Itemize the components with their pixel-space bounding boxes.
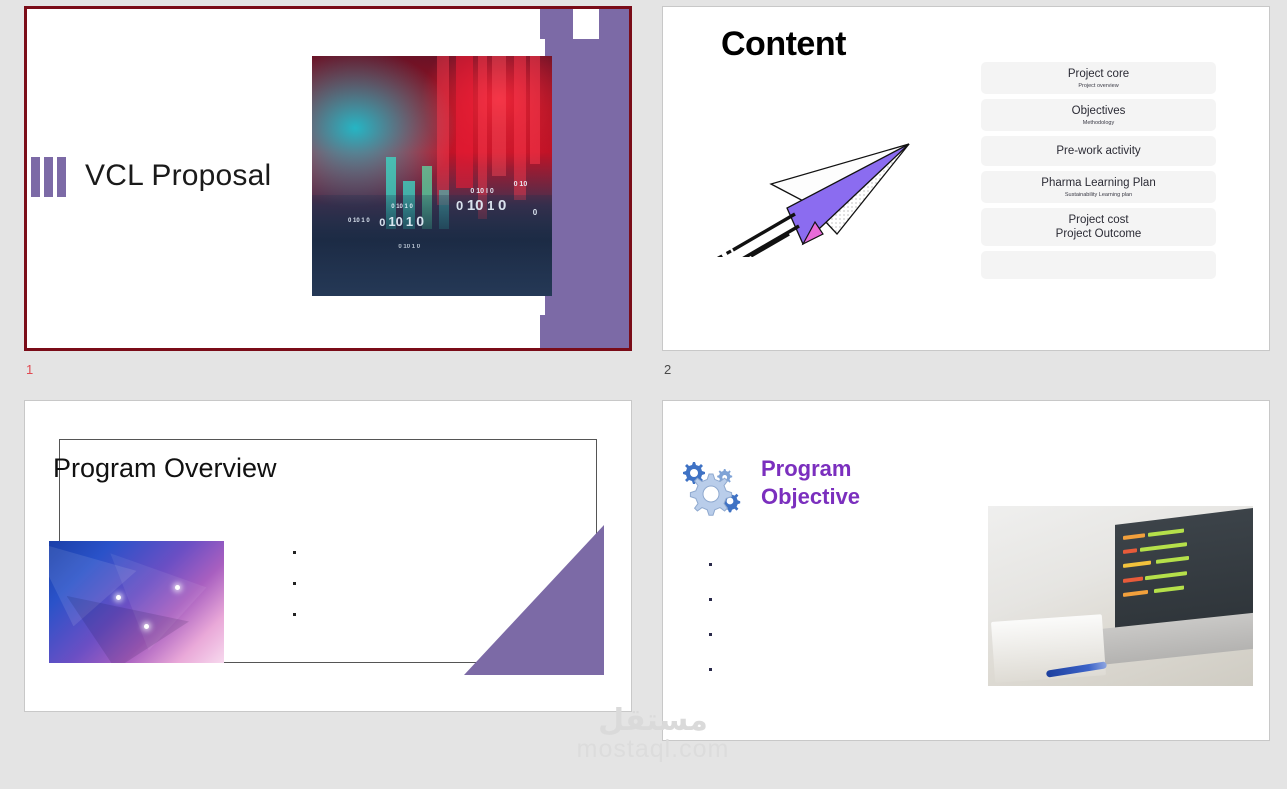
slide-number-1: 1 <box>26 362 33 377</box>
abstract-polygon-image <box>49 541 224 663</box>
slide-4-title-line1: Program <box>761 455 860 483</box>
content-item-sub: Sustainability Learning plan <box>1065 192 1132 199</box>
slide-cell-1: VCL Proposal 0 10 1 0 0 10 1 0 0 <box>0 0 640 394</box>
slide-cell-2: Content <box>640 0 1287 394</box>
slide-cell-3: Program Overview 3 <box>0 394 640 789</box>
slide-2-title: Content <box>721 25 846 64</box>
stock-market-city-image: 0 10 1 0 0 10 1 0 0 10 1 0 0 10 I 0 0 10… <box>312 56 552 296</box>
bullet-marker <box>709 563 712 566</box>
bullet-marker <box>293 551 296 554</box>
content-item-label: Project core <box>1068 67 1129 81</box>
slide-sorter-panel: VCL Proposal 0 10 1 0 0 10 1 0 0 <box>0 0 1287 789</box>
purple-bottom-bar <box>540 315 573 348</box>
slide-thumbnail-4[interactable]: Program Objective <box>662 400 1270 741</box>
purple-top-bar <box>540 9 573 39</box>
bullet-marker <box>709 598 712 601</box>
title-accent-bars <box>31 157 66 197</box>
slide-thumbnail-2[interactable]: Content <box>662 6 1270 351</box>
slide-1-title: VCL Proposal <box>85 159 271 193</box>
gears-icon <box>677 456 747 516</box>
purple-triangle-decoration <box>464 525 604 675</box>
content-item[interactable]: Project core Project overview <box>981 62 1216 94</box>
slide-1-canvas: VCL Proposal 0 10 1 0 0 10 1 0 0 <box>27 9 629 348</box>
content-item-label: Pharma Learning Plan <box>1041 176 1155 190</box>
content-list: Project core Project overview Objectives… <box>981 62 1216 279</box>
content-item-label: Objectives <box>1072 104 1126 118</box>
content-item-label: Project cost Project Outcome <box>1056 213 1142 242</box>
paper-plane-icon <box>711 122 921 257</box>
slide-thumbnail-3[interactable]: Program Overview <box>24 400 632 712</box>
bullet-marker <box>709 668 712 671</box>
slide-thumbnail-1[interactable]: VCL Proposal 0 10 1 0 0 10 1 0 0 <box>24 6 632 351</box>
content-item[interactable]: Pre-work activity <box>981 136 1216 166</box>
bullet-marker <box>293 613 296 616</box>
content-item[interactable]: Project cost Project Outcome <box>981 208 1216 246</box>
content-item-label: Pre-work activity <box>1056 144 1140 158</box>
laptop-workspace-image <box>988 506 1253 686</box>
content-item-sub: Methodology <box>1083 120 1115 127</box>
slide-4-bullets <box>709 563 712 671</box>
purple-right-band <box>545 9 629 348</box>
bullet-marker <box>293 582 296 585</box>
slide-3-title: Program Overview <box>53 453 277 484</box>
content-item-empty[interactable] <box>981 251 1216 279</box>
slide-4-title: Program Objective <box>761 455 860 510</box>
slide-3-bullets <box>293 551 296 616</box>
slide-cell-4: Program Objective <box>640 394 1287 789</box>
content-item[interactable]: Objectives Methodology <box>981 99 1216 131</box>
slide-number-2: 2 <box>664 362 671 377</box>
bullet-marker <box>709 633 712 636</box>
slide-4-title-line2: Objective <box>761 483 860 511</box>
content-item-sub: Project overview <box>1078 83 1118 90</box>
content-item[interactable]: Pharma Learning Plan Sustainability Lear… <box>981 171 1216 203</box>
